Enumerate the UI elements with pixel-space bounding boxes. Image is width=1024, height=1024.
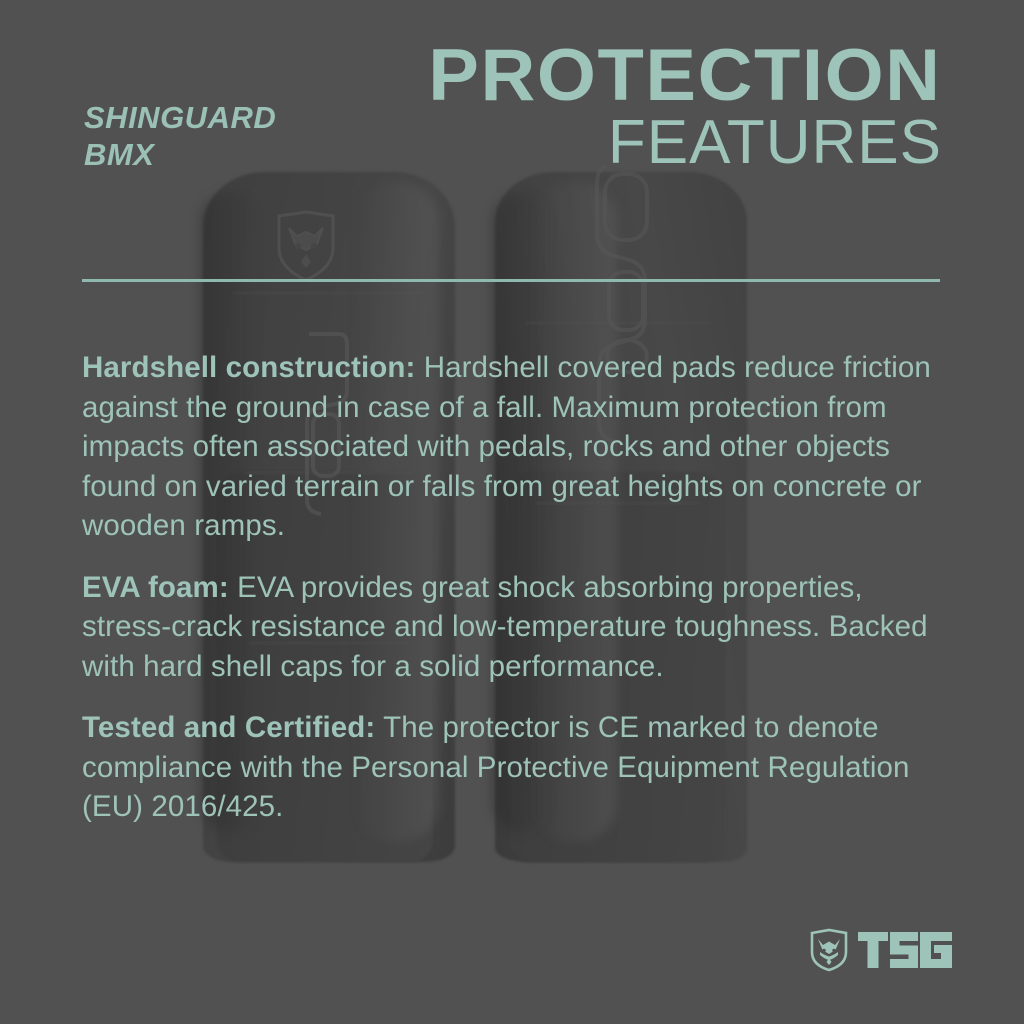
shinguard-seam [233, 292, 423, 294]
page-title: PROTECTION FEATURES [448, 42, 942, 174]
features-list: Hardshell construction: Hardshell covere… [82, 348, 960, 849]
feature-lead: Tested and Certified: [82, 711, 375, 744]
feature-paragraph: EVA foam: EVA provides great shock absor… [82, 568, 960, 687]
feature-paragraph: Hardshell construction: Hardshell covere… [82, 348, 960, 546]
protection-features-poster: SHINGUARD BMX PROTECTION FEATURES Hardsh… [0, 0, 1024, 1024]
header-divider [82, 279, 940, 282]
product-name-kicker: SHINGUARD BMX [84, 100, 276, 173]
shinguard-seam [525, 322, 711, 324]
title-main: PROTECTION [429, 42, 942, 109]
tsg-wordmark [858, 932, 954, 968]
kicker-line-2: BMX [84, 137, 276, 174]
tsg-logo [809, 928, 954, 972]
feature-paragraph: Tested and Certified: The protector is C… [82, 708, 960, 827]
kicker-line-1: SHINGUARD [84, 100, 276, 137]
fox-shield-icon [809, 928, 849, 972]
feature-lead: EVA foam: [82, 571, 229, 604]
fox-emblem-icon [275, 210, 337, 282]
feature-lead: Hardshell construction: [82, 351, 415, 384]
title-sub: FEATURES [448, 111, 942, 174]
